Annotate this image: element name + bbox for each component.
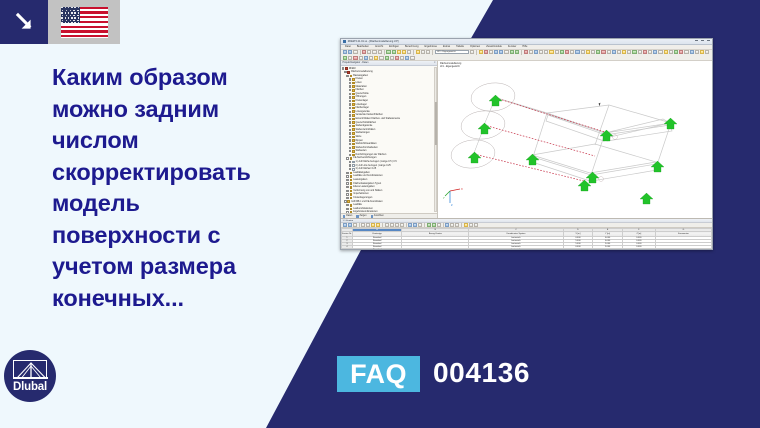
tree-item-label: Exzentrizitäten Flächen- und Stabelement… — [355, 118, 400, 120]
tree-expander-icon[interactable] — [346, 204, 348, 206]
navigator-tab-ansichten[interactable]: Ansichten — [371, 215, 384, 217]
table-view-icon[interactable] — [474, 223, 478, 227]
tree-expander-icon[interactable] — [349, 161, 351, 163]
folder-icon — [350, 197, 353, 200]
toolbar-wire-icon[interactable] — [705, 50, 709, 54]
table-save-icon[interactable] — [353, 223, 357, 227]
toolbar-shade-icon[interactable] — [343, 56, 347, 60]
navigator-scrollbar-thumb[interactable] — [435, 102, 437, 145]
folder-icon — [352, 103, 355, 106]
toolbar-eccentricity-icon[interactable] — [643, 50, 647, 54]
folder-icon — [350, 186, 353, 189]
tree-expander-icon[interactable] — [349, 143, 351, 145]
toolbar-cross-icon[interactable] — [669, 50, 673, 54]
document-icon — [352, 164, 355, 167]
menu-item-fenster[interactable]: Fenster — [508, 45, 516, 48]
table-cell[interactable]: kartesisch — [469, 249, 563, 250]
navigator-title: Projekt-Navigator - Daten — [343, 62, 369, 64]
table-cell[interactable]: 5 — [342, 249, 353, 250]
us-flag-icon — [61, 7, 108, 38]
window-controls — [695, 40, 710, 41]
toolbar-save-icon[interactable] — [353, 50, 357, 54]
folder-icon — [350, 193, 353, 196]
folder-icon — [350, 211, 353, 213]
tree-item-label: Materialien — [355, 86, 366, 88]
folder-icon — [350, 172, 353, 175]
table-cut-icon[interactable] — [361, 223, 365, 227]
toolbar-array-icon[interactable] — [379, 56, 383, 60]
toolbar-print-icon[interactable] — [362, 50, 366, 54]
data-table-panel[interactable]: 1.1 Knoten — [341, 218, 712, 250]
toolbar-rib-icon[interactable] — [658, 50, 662, 54]
navigator-tree[interactable]: RFEMFlächenmodellierungBasisangabenKnote… — [341, 66, 437, 214]
tree-item-label: Stabexzentrizitäten — [355, 129, 375, 131]
toolbar-group-icon[interactable] — [359, 56, 363, 60]
toolbar-zoomwin-icon[interactable] — [695, 50, 699, 54]
table-insert-row-icon[interactable] — [395, 223, 399, 227]
folder-icon — [352, 96, 355, 99]
window-title: RFEM 5.21.01.xx - [Flächenmodellierung U… — [348, 40, 399, 43]
navigator-tabs[interactable]: Daten Zeigen Ansichten — [341, 213, 437, 218]
tree-expander-icon[interactable] — [349, 100, 351, 102]
tree-item-label: Lastfälle und Kombinationen — [353, 175, 382, 177]
tree-item-label: Linien — [355, 82, 361, 84]
table-settings-icon[interactable] — [445, 223, 449, 227]
toolbar-hinge-icon[interactable] — [638, 50, 642, 54]
tree-item-label: Öffnungen — [355, 96, 366, 98]
tree-item-label: Stabendgelenke — [355, 125, 372, 127]
coordinate-axes-icon: X Y Z — [443, 187, 463, 207]
folder-icon — [350, 157, 353, 160]
tree-expander-icon[interactable] — [346, 182, 348, 184]
toolbar-cut-icon[interactable] — [367, 50, 371, 54]
folder-icon — [352, 82, 355, 85]
folder-icon — [350, 182, 353, 185]
menu-item-ansicht[interactable]: Ansicht — [375, 45, 383, 48]
toolbar-section-icon[interactable] — [607, 50, 611, 54]
menu-item-einfuegen[interactable]: Einfügen — [389, 45, 399, 48]
folder-icon — [352, 100, 355, 103]
toolbar-pan-icon[interactable] — [402, 50, 406, 54]
toolbar-color-icon[interactable] — [353, 56, 357, 60]
faq-badge: FAQ — [337, 356, 420, 392]
combo-dropdown-icon[interactable] — [470, 50, 474, 54]
tree-expander-icon[interactable] — [349, 78, 351, 80]
faq-number: 004136 — [433, 357, 530, 389]
toolbar-copy-icon[interactable] — [372, 50, 376, 54]
toolbar-isometric-icon[interactable] — [544, 50, 548, 54]
tree-expander-icon[interactable] — [349, 114, 351, 116]
table-import-icon[interactable] — [432, 223, 436, 227]
surface-outlines — [497, 98, 672, 181]
tree-item[interactable]: Ergebniskombinationen — [342, 211, 437, 214]
toolbar-zoom-icon[interactable] — [397, 50, 401, 54]
tree-item-label: GUI/OBJ- und FE-Koordinaten — [351, 201, 383, 203]
close-icon[interactable] — [707, 40, 710, 41]
folder-icon — [352, 132, 355, 135]
tree-item-label: Lastfälle — [353, 204, 362, 206]
tree-expander-icon[interactable] — [346, 75, 348, 77]
tree-item-label: Durchdringungen der Flächen — [355, 154, 386, 156]
document-icon — [352, 168, 355, 171]
menu-item-tabelle[interactable]: Tabelle — [456, 45, 464, 48]
tree-expander-icon[interactable] — [349, 89, 351, 91]
window-body: Projekt-Navigator - Daten × RFEMFlächenm… — [341, 61, 712, 218]
toolbar-result-icon[interactable] — [484, 50, 488, 54]
toolbar-measure-icon[interactable] — [581, 50, 585, 54]
tree-expander-icon[interactable] — [349, 96, 351, 98]
table-calc-icon[interactable] — [418, 223, 422, 227]
dlubal-wordmark: Dlubal — [13, 381, 47, 393]
table-cell[interactable]: -3.000 — [622, 249, 655, 250]
toolbar-render-icon[interactable] — [416, 50, 420, 54]
table-highlight-icon[interactable] — [464, 223, 468, 227]
toolbar-ungroup-icon[interactable] — [364, 56, 368, 60]
folder-icon — [350, 75, 353, 78]
toolbar-layers-icon[interactable] — [534, 50, 538, 54]
dlubal-bridge-icon — [13, 360, 47, 379]
tree-expander-icon[interactable] — [349, 82, 351, 84]
tree-expander-icon[interactable] — [349, 150, 351, 152]
table-help-icon[interactable] — [455, 223, 459, 227]
toolbar-redo-icon[interactable] — [392, 50, 396, 54]
folder-icon — [345, 67, 348, 70]
folder-icon — [352, 136, 355, 139]
toolbar-solid-icon[interactable] — [622, 50, 626, 54]
folder-icon — [352, 114, 355, 117]
toolbar-division-icon[interactable] — [648, 50, 652, 54]
tree-expander-icon[interactable] — [344, 71, 346, 73]
folder-icon — [352, 146, 355, 149]
folder-icon — [350, 190, 353, 193]
toolbar-trim-icon[interactable] — [390, 56, 394, 60]
table-open-icon[interactable] — [348, 223, 352, 227]
toolbar-delete-icon[interactable] — [565, 50, 569, 54]
folder-icon — [350, 204, 353, 207]
document-icon — [352, 161, 355, 164]
table-cell[interactable] — [402, 249, 469, 250]
table-sort-icon[interactable] — [413, 223, 417, 227]
toolbar-info-icon[interactable] — [529, 50, 533, 54]
toolbar-check-icon[interactable] — [674, 50, 678, 54]
tree-item-label: Querschnitte — [355, 93, 368, 95]
tree-item-label: Basisangaben — [353, 75, 368, 77]
folder-icon — [352, 118, 355, 121]
page-title: Каким образом можно задним числом скорре… — [52, 62, 287, 314]
language-flag-badge — [48, 0, 120, 44]
toolbar-grid-icon[interactable] — [494, 50, 498, 54]
minimize-icon[interactable] — [695, 40, 698, 41]
tree-item-label: Liniengelenke — [355, 111, 369, 113]
folder-icon — [352, 154, 355, 157]
tree-item-label: Ergebniskombinationen — [353, 211, 377, 213]
folder-icon — [352, 85, 355, 88]
tree-expander-icon[interactable] — [346, 211, 348, 213]
tree-item-label: FE-Netzverdichtungen — [353, 157, 376, 159]
tree-expander-icon[interactable] — [349, 132, 351, 134]
table-new-icon[interactable] — [343, 223, 347, 227]
folder-icon — [350, 208, 353, 211]
tree-item-label: Stabseiten — [355, 150, 366, 152]
rfem-app-icon — [343, 40, 346, 43]
folder-icon — [350, 175, 353, 178]
tree-expander-icon[interactable] — [346, 179, 348, 181]
tree-expander-icon[interactable] — [349, 125, 351, 127]
folder-icon — [352, 143, 355, 146]
tree-item-label: Rippen — [355, 140, 362, 142]
navigator-tab-daten[interactable]: Daten — [343, 215, 352, 217]
table-cell[interactable]: 0.000 — [593, 249, 623, 250]
toolbar-table-icon[interactable] — [489, 50, 493, 54]
arrow-down-right-icon — [13, 11, 35, 33]
toolbar-extend-icon[interactable] — [395, 56, 399, 60]
toolbar-select-icon[interactable] — [575, 50, 579, 54]
tree-expander-icon[interactable] — [349, 129, 351, 131]
toolbar-calc-icon[interactable] — [479, 50, 483, 54]
rfem-screenshot: RFEM 5.21.01.xx - [Flächenmodellierung U… — [340, 38, 713, 250]
toolbar-mesh-icon[interactable] — [510, 50, 514, 54]
table-export-icon[interactable] — [427, 223, 431, 227]
tree-item-label: Flächenlager — [355, 107, 368, 109]
toolbar-new-icon[interactable] — [343, 50, 347, 54]
window-titlebar: RFEM 5.21.01.xx - [Flächenmodellierung U… — [341, 39, 712, 45]
svg-text:X: X — [461, 187, 463, 191]
toolbar-ortho-icon[interactable] — [504, 50, 508, 54]
toolbar-refresh-icon[interactable] — [684, 50, 688, 54]
tree-expander-icon[interactable] — [349, 136, 351, 138]
toolbar-load-icon[interactable] — [601, 50, 605, 54]
toolbar-line-icon[interactable] — [426, 50, 430, 54]
folder-icon — [352, 78, 355, 81]
table-grid-icon[interactable] — [469, 223, 473, 227]
tree-expander-icon[interactable] — [346, 190, 348, 192]
toolbar-undo-icon[interactable] — [386, 50, 390, 54]
toolbar-zoomfit-icon[interactable] — [690, 50, 694, 54]
menu-item-datei[interactable]: Datei — [345, 45, 351, 48]
tree-expander-icon[interactable] — [349, 85, 351, 87]
tree-item-label: Sätze — [355, 136, 361, 138]
tree-item-label: Verformung von und Stäben — [353, 190, 382, 192]
tree-item-label: 2 | Auf Linie bezogen | Länge 0.25 — [355, 165, 390, 167]
faq-banner-page: Каким образом можно задним числом скорре… — [0, 0, 760, 428]
tree-item-label: 3 | Auf Flächen 0.25 — [355, 168, 376, 170]
toolbar-contact-icon[interactable] — [627, 50, 631, 54]
tree-expander-icon[interactable] — [346, 157, 348, 159]
model-viewport[interactable]: Flächenmodellierung LF1 - Eigengewicht — [438, 61, 712, 218]
tree-expander-icon[interactable] — [349, 107, 351, 109]
main-toolbar[interactable]: LF1 - Eigengewicht — [341, 50, 712, 62]
folder-icon — [352, 139, 355, 142]
toolbar-export-icon[interactable] — [560, 50, 564, 54]
toolbar-settings-icon[interactable] — [570, 50, 574, 54]
navigator-scrollbar[interactable] — [434, 67, 436, 213]
tree-item-label: Flächenlastangaben Typen — [353, 183, 381, 185]
tree-item-label: Imperfektionen — [353, 193, 368, 195]
toolbar-light-icon[interactable] — [549, 50, 553, 54]
tree-item-label: Knotenlagerungen — [353, 197, 372, 199]
toolbar-opening-icon[interactable] — [632, 50, 636, 54]
folder-icon — [352, 128, 355, 131]
toolbar-warning-icon[interactable] — [679, 50, 683, 54]
tree-item-label: Lastkombinationen — [353, 208, 373, 210]
tree-item-label: Lasteingaben — [353, 179, 367, 181]
tree-expander-icon[interactable] — [344, 200, 346, 202]
svg-text:Z: Z — [451, 203, 453, 207]
tree-item-label: Ebene Lasteingaben — [353, 186, 374, 188]
load-case-combo[interactable]: LF1 - Eigengewicht — [435, 50, 469, 54]
tree-expander-icon[interactable] — [349, 139, 351, 141]
table-cell[interactable]: Standard — [352, 249, 401, 250]
tree-item-label: Linienlager — [355, 104, 366, 106]
tree-item-label: Flächen — [355, 89, 363, 91]
toolbar-nonlinear-icon[interactable] — [664, 50, 668, 54]
tree-item-label: Querschnittsflächen — [355, 122, 376, 124]
toolbar-material-icon[interactable] — [612, 50, 616, 54]
toolbar-surface-icon[interactable] — [617, 50, 621, 54]
tree-item-label: Flächenmodellierung — [351, 71, 373, 73]
toolbar-open-icon[interactable] — [348, 50, 352, 54]
tree-expander-icon[interactable] — [349, 103, 351, 105]
toolbar-mirror-icon[interactable] — [374, 56, 378, 60]
tree-expander-icon[interactable] — [349, 154, 351, 156]
table-print-icon[interactable] — [437, 223, 441, 227]
tree-item-label: Verdeckte Kanten/Flächen — [355, 114, 382, 116]
table-undo-icon[interactable] — [385, 223, 389, 227]
table-paste-icon[interactable] — [371, 223, 375, 227]
folder-icon — [352, 150, 355, 153]
toolbar-chamfer-icon[interactable] — [410, 56, 414, 60]
svg-text:Y: Y — [443, 196, 445, 200]
tree-expander-icon[interactable] — [349, 111, 351, 113]
toolbar-paste-icon[interactable] — [378, 50, 382, 54]
toolbar-set-icon[interactable] — [653, 50, 657, 54]
menu-item-hilfe[interactable]: Hilfe — [522, 45, 527, 48]
navigator-tab-zeigen[interactable]: Zeigen — [356, 215, 366, 217]
folder-icon — [352, 121, 355, 124]
table-copy-icon[interactable] — [366, 223, 370, 227]
tree-item-label: 1 | Auf Fläche bezogen | Länge 0.5 | 0.5 — [355, 161, 396, 163]
tree-expander-icon[interactable] — [349, 121, 351, 123]
menu-item-extras[interactable]: Extras — [443, 45, 450, 48]
menu-item-bearbeiten[interactable]: Bearbeiten — [357, 45, 369, 48]
table-row[interactable]: 5Standardkartesisch0.0000.000-3.000 — [342, 249, 712, 250]
toolbar-rotate-icon[interactable] — [407, 50, 411, 54]
faq-label: FAQ — [350, 359, 407, 390]
tree-expander-icon[interactable] — [349, 147, 351, 149]
tree-expander-icon[interactable] — [346, 175, 348, 177]
table-delete-row-icon[interactable] — [400, 223, 404, 227]
tree-item-label: Knoten — [355, 78, 362, 80]
folder-icon — [352, 110, 355, 113]
folder-icon — [352, 107, 355, 110]
toolbar-align-icon[interactable] — [369, 56, 373, 60]
toolbar-fe-icon[interactable] — [515, 50, 519, 54]
nodal-supports — [468, 95, 677, 204]
arrow-badge — [0, 0, 48, 44]
table-find-icon[interactable] — [376, 223, 380, 227]
toolbar-view-icon[interactable] — [539, 50, 543, 54]
toolbar-fillet-icon[interactable] — [405, 56, 409, 60]
line-refinement-dashed — [474, 98, 608, 181]
tree-item-label: Stabteilungen — [355, 132, 369, 134]
toolbar-snap-icon[interactable] — [499, 50, 503, 54]
menu-item-ergebnisse[interactable]: Ergebnisse — [425, 45, 438, 48]
toolbar-help-icon[interactable] — [524, 50, 528, 54]
tree-expander-icon[interactable] — [346, 193, 348, 195]
tree-item-label: RFEM — [349, 68, 356, 70]
folder-icon — [352, 89, 355, 92]
toolbar-text-icon[interactable] — [591, 50, 595, 54]
tree-expander-icon[interactable] — [346, 172, 348, 174]
maximize-icon[interactable] — [701, 40, 704, 41]
tree-expander-icon[interactable] — [349, 164, 351, 166]
toolbar-support-icon[interactable] — [596, 50, 600, 54]
tree-item-label: Lastfallangaben — [353, 172, 369, 174]
table-units-icon[interactable] — [450, 223, 454, 227]
dlubal-logo: Dlubal — [4, 350, 56, 402]
tree-expander-icon[interactable] — [346, 186, 348, 188]
toolbar-node-icon[interactable] — [421, 50, 425, 54]
toolbar-extrude-icon[interactable] — [385, 56, 389, 60]
table-grid[interactable]: ABCDEFG Knoten Nr.KnotentypBezug KnotenK… — [341, 228, 712, 250]
table-redo-icon[interactable] — [390, 223, 394, 227]
folder-icon — [347, 71, 350, 74]
tree-expander-icon[interactable] — [346, 208, 348, 210]
toolbar-display-icon[interactable] — [555, 50, 559, 54]
menu-item-zusatzmodule[interactable]: Zusatzmodule — [486, 45, 502, 48]
menu-item-berechnung[interactable]: Berechnung — [405, 45, 418, 48]
tree-item-label: Stabnichtlinearitäten — [355, 143, 376, 145]
table-body: 1Standardkartesisch0.0000.0000.0002Stand… — [342, 237, 712, 250]
toolbar-offset-icon[interactable] — [400, 56, 404, 60]
node-markers — [599, 135, 618, 182]
folder-icon — [347, 200, 350, 203]
tree-expander-icon[interactable] — [349, 118, 351, 120]
tree-item-label: Stabverformbarkeiten — [355, 147, 377, 149]
table-cell[interactable]: 0.000 — [563, 249, 593, 250]
menu-item-optionen[interactable]: Optionen — [470, 45, 480, 48]
tree-expander-icon[interactable] — [342, 67, 344, 69]
navigator-close-icon[interactable]: × — [434, 62, 435, 64]
folder-icon — [352, 125, 355, 128]
tree-item-label: Knotenlager — [355, 100, 368, 102]
toolbar-zoomprev-icon[interactable] — [700, 50, 704, 54]
folder-icon — [352, 93, 355, 96]
folder-icon — [350, 179, 353, 182]
table-filter-icon[interactable] — [408, 223, 412, 227]
toolbar-dimension-icon[interactable] — [586, 50, 590, 54]
tree-expander-icon[interactable] — [349, 168, 351, 170]
project-navigator[interactable]: Projekt-Navigator - Daten × RFEMFlächenm… — [341, 61, 438, 218]
toolbar-transparent-icon[interactable] — [348, 56, 352, 60]
table-cell[interactable] — [655, 249, 711, 250]
structural-model-graphic: X Y Z — [438, 61, 712, 218]
tree-expander-icon[interactable] — [349, 93, 351, 95]
tree-expander-icon[interactable] — [346, 197, 348, 199]
